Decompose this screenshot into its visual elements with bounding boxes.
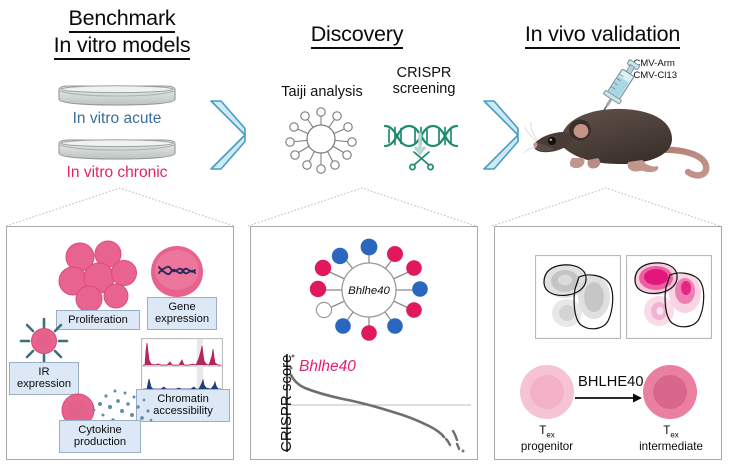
tex-prog-line2: progenitor [521, 440, 573, 453]
tex-int-line2: intermediate [639, 440, 703, 453]
gene-expression-cell-icon [148, 244, 206, 300]
column-title-invivo: In vivo validation [480, 22, 725, 49]
crispr-screening-label: CRISPR screening [372, 66, 476, 97]
tex-int-sub: ex [670, 430, 678, 439]
proliferation-cells-icon [58, 240, 144, 312]
benchmark-title-line1: Benchmark [69, 6, 176, 33]
crispr-label-line2: screening [393, 81, 456, 97]
crispr-score-axis-label: CRISPR score [278, 354, 295, 452]
tag-chromatin-line1: Chromatin [157, 393, 209, 405]
tag-gene-line1: Gene [168, 301, 195, 313]
transition-arrow-icon [574, 392, 644, 408]
tag-cytokine-line2: production [74, 436, 126, 448]
panel-connectors [0, 184, 730, 228]
discovery-title: Discovery [311, 22, 404, 49]
chevron-right-icon-1 [205, 98, 251, 172]
mouse-icon [528, 98, 724, 180]
taiji-label-text: Taiji analysis [281, 84, 362, 100]
flow-plot-bhlhe40 [626, 255, 712, 339]
petri-dish-chronic-icon [55, 138, 179, 162]
dish-label-chronic: In vitro chronic [22, 164, 212, 182]
benchmark-title-line2: In vitro models [54, 33, 191, 60]
figure-canvas: Benchmark In vitro models Discovery In v… [0, 0, 730, 466]
tex-progenitor-cell-icon [518, 363, 576, 421]
chevron-right-icon-2 [478, 98, 524, 172]
bhlhe40-transition-label: BHLHE40 [578, 374, 644, 390]
tag-proliferation-text: Proliferation [68, 314, 128, 326]
column-title-discovery: Discovery [262, 22, 452, 49]
tag-gene-line2: expression [155, 313, 209, 325]
bhlhe40-network-icon: Bhlhe40 [307, 232, 431, 348]
tag-chromatin-line2: accessibility [153, 405, 213, 417]
crispr-label-line1: CRISPR [397, 65, 452, 81]
dna-scissors-icon [381, 120, 469, 174]
tex-intermediate-label: Tex intermediate [622, 424, 720, 454]
petri-dish-acute-icon [55, 84, 179, 108]
column-title-benchmark: Benchmark In vitro models [8, 6, 236, 60]
tag-cytokine-line1: Cytokine [78, 424, 122, 436]
tex-progenitor-label: Tex progenitor [507, 424, 587, 454]
tag-cytokine-production: Cytokine production [59, 420, 141, 453]
svg-text:Bhlhe40: Bhlhe40 [348, 285, 390, 297]
bhlhe40-annotation: Bhlhe40 [299, 358, 356, 376]
tex-intermediate-cell-icon [641, 363, 699, 421]
ir-expression-cell-icon [18, 316, 70, 366]
network-hub-icon [284, 104, 358, 174]
tex-prog-sub: ex [546, 430, 554, 439]
invivo-title: In vivo validation [525, 22, 680, 49]
tag-ir-line1: IR [38, 366, 49, 378]
flow-plot-control [535, 255, 621, 339]
taiji-analysis-label: Taiji analysis [258, 85, 386, 101]
dish-label-acute: In vitro acute [22, 110, 212, 128]
tag-gene-expression: Gene expression [147, 297, 217, 330]
